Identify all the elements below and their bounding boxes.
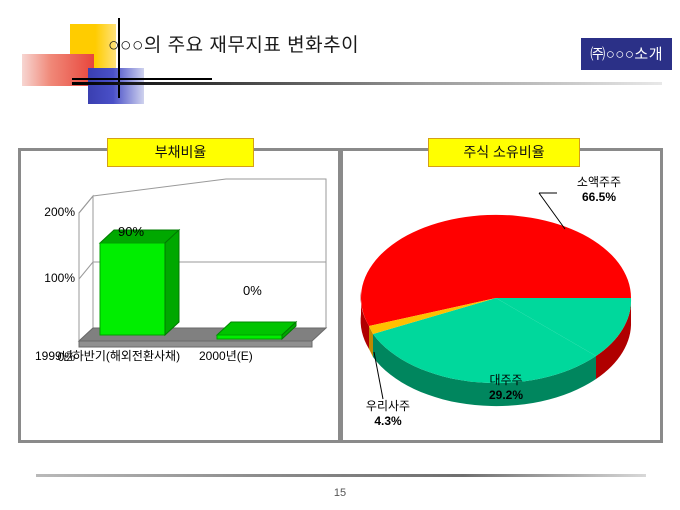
pie-chart-stock-ownership: 소액주주 66.5% 대주주 29.2% 우리사주 4.3%: [343, 151, 660, 440]
panel-title-stock-ownership: 주식 소유비율: [428, 138, 580, 167]
x-axis-category-0: 1999년하반기(해외전환사채): [35, 347, 180, 364]
pie-label-name-employee: 우리사주: [345, 399, 431, 414]
pie-label-name-minority: 소액주주: [539, 175, 659, 190]
bar-value-label-0: 90%: [118, 224, 144, 239]
y-axis-tick-200: 200%: [21, 205, 75, 219]
decorative-square-cross-logo: [18, 18, 110, 98]
footer-divider: [36, 474, 646, 477]
pie-label-value-employee: 4.3%: [345, 414, 431, 429]
pie-label-value-minority: 66.5%: [539, 190, 659, 205]
pie-slice-label-minority: 소액주주 66.5%: [539, 175, 659, 205]
pie-slice-label-employee: 우리사주 4.3%: [345, 399, 431, 429]
panel-title-debt-ratio: 부채비율: [107, 138, 254, 167]
bar-chart-debt-ratio: 0% 100% 200% 90% 0% 1999년하반기(해외전환사채) 200…: [21, 151, 338, 440]
section-badge: ㈜○○○소개: [581, 38, 672, 70]
page-number: 15: [0, 487, 680, 499]
y-axis-tick-100: 100%: [21, 271, 75, 285]
charts-container: 0% 100% 200% 90% 0% 1999년하반기(해외전환사채) 200…: [18, 148, 663, 443]
header-divider: [72, 82, 662, 85]
pie-slice-label-major: 대주주 29.2%: [451, 373, 561, 403]
panel-debt-ratio: 0% 100% 200% 90% 0% 1999년하반기(해외전환사채) 200…: [18, 148, 341, 443]
pie-label-name-major: 대주주: [451, 373, 561, 388]
slide-header: ○○○의 주요 재무지표 변화추이 ㈜○○○소개: [0, 0, 680, 110]
bar-value-label-1: 0%: [243, 283, 262, 298]
x-axis-category-1: 2000년(E): [199, 347, 253, 364]
panel-stock-ownership: 소액주주 66.5% 대주주 29.2% 우리사주 4.3% 주식 소유비율: [340, 148, 663, 443]
page-title: ○○○의 주요 재무지표 변화추이: [108, 30, 488, 57]
logo-blue-square: [88, 68, 144, 104]
logo-horizontal-line: [72, 78, 212, 80]
pie-label-value-major: 29.2%: [451, 388, 561, 403]
bar-chart-svg: [21, 151, 338, 440]
